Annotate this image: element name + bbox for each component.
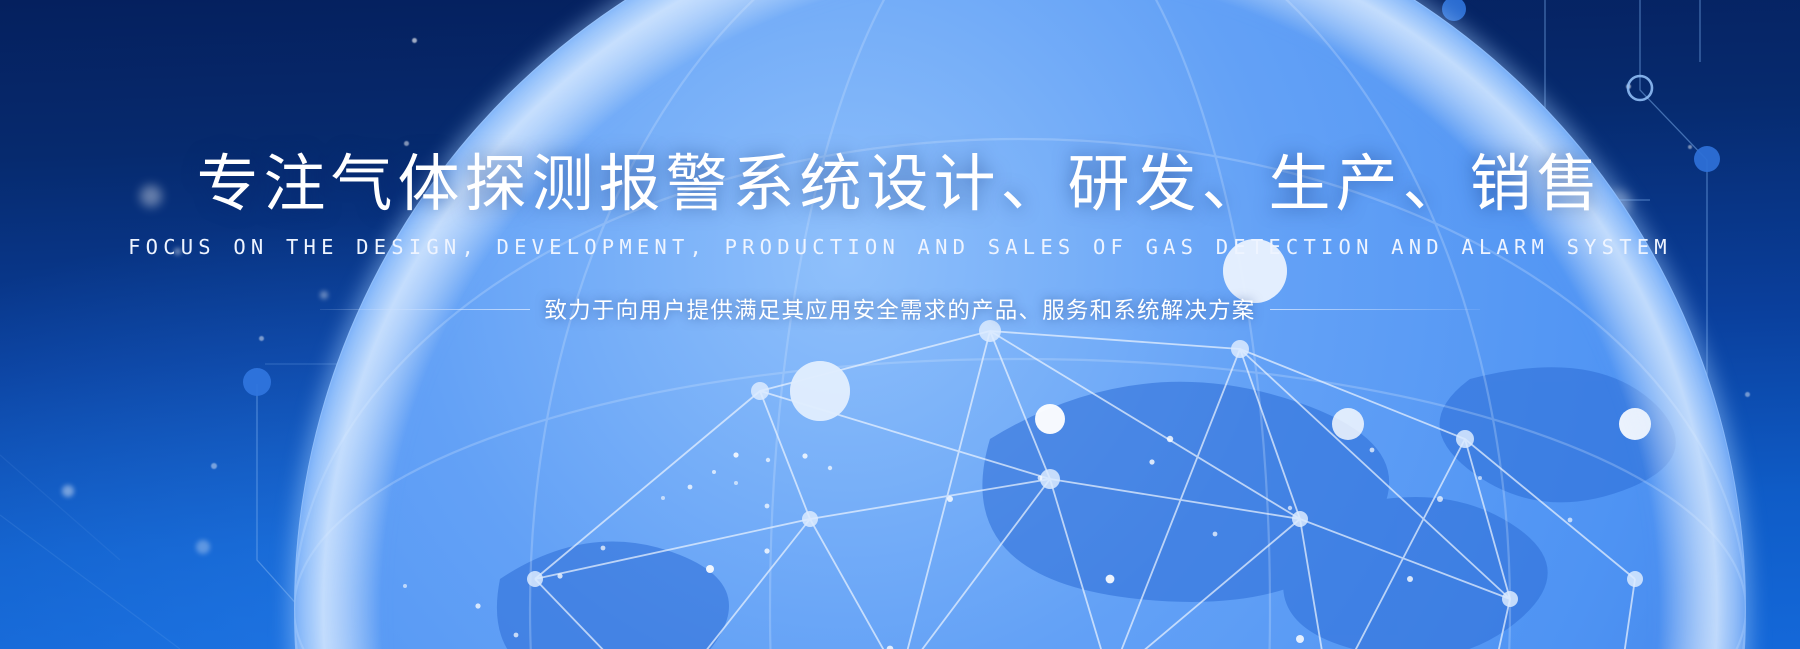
- globe-sparkles: [627, 436, 1623, 649]
- hero-text-block: 专注气体探测报警系统设计、研发、生产、销售 FOCUS ON THE DESIG…: [0, 150, 1800, 325]
- english-subtitle: FOCUS ON THE DESIGN, DEVELOPMENT, PRODUC…: [0, 235, 1800, 259]
- tagline-row: 致力于向用户提供满足其应用安全需求的产品、服务和系统解决方案: [0, 293, 1800, 325]
- globe-node-vertices: [527, 320, 1643, 649]
- page-title: 专注气体探测报警系统设计、研发、生产、销售: [0, 150, 1800, 219]
- globe-network-lines: [535, 331, 1635, 649]
- tagline-text: 致力于向用户提供满足其应用安全需求的产品、服务和系统解决方案: [530, 293, 1269, 325]
- globe-landmasses: [497, 367, 1676, 649]
- hero-banner: 专注气体探测报警系统设计、研发、生产、销售 FOCUS ON THE DESIG…: [0, 0, 1800, 649]
- tagline-rule-left: [320, 309, 530, 310]
- tagline-rule-right: [1270, 309, 1480, 310]
